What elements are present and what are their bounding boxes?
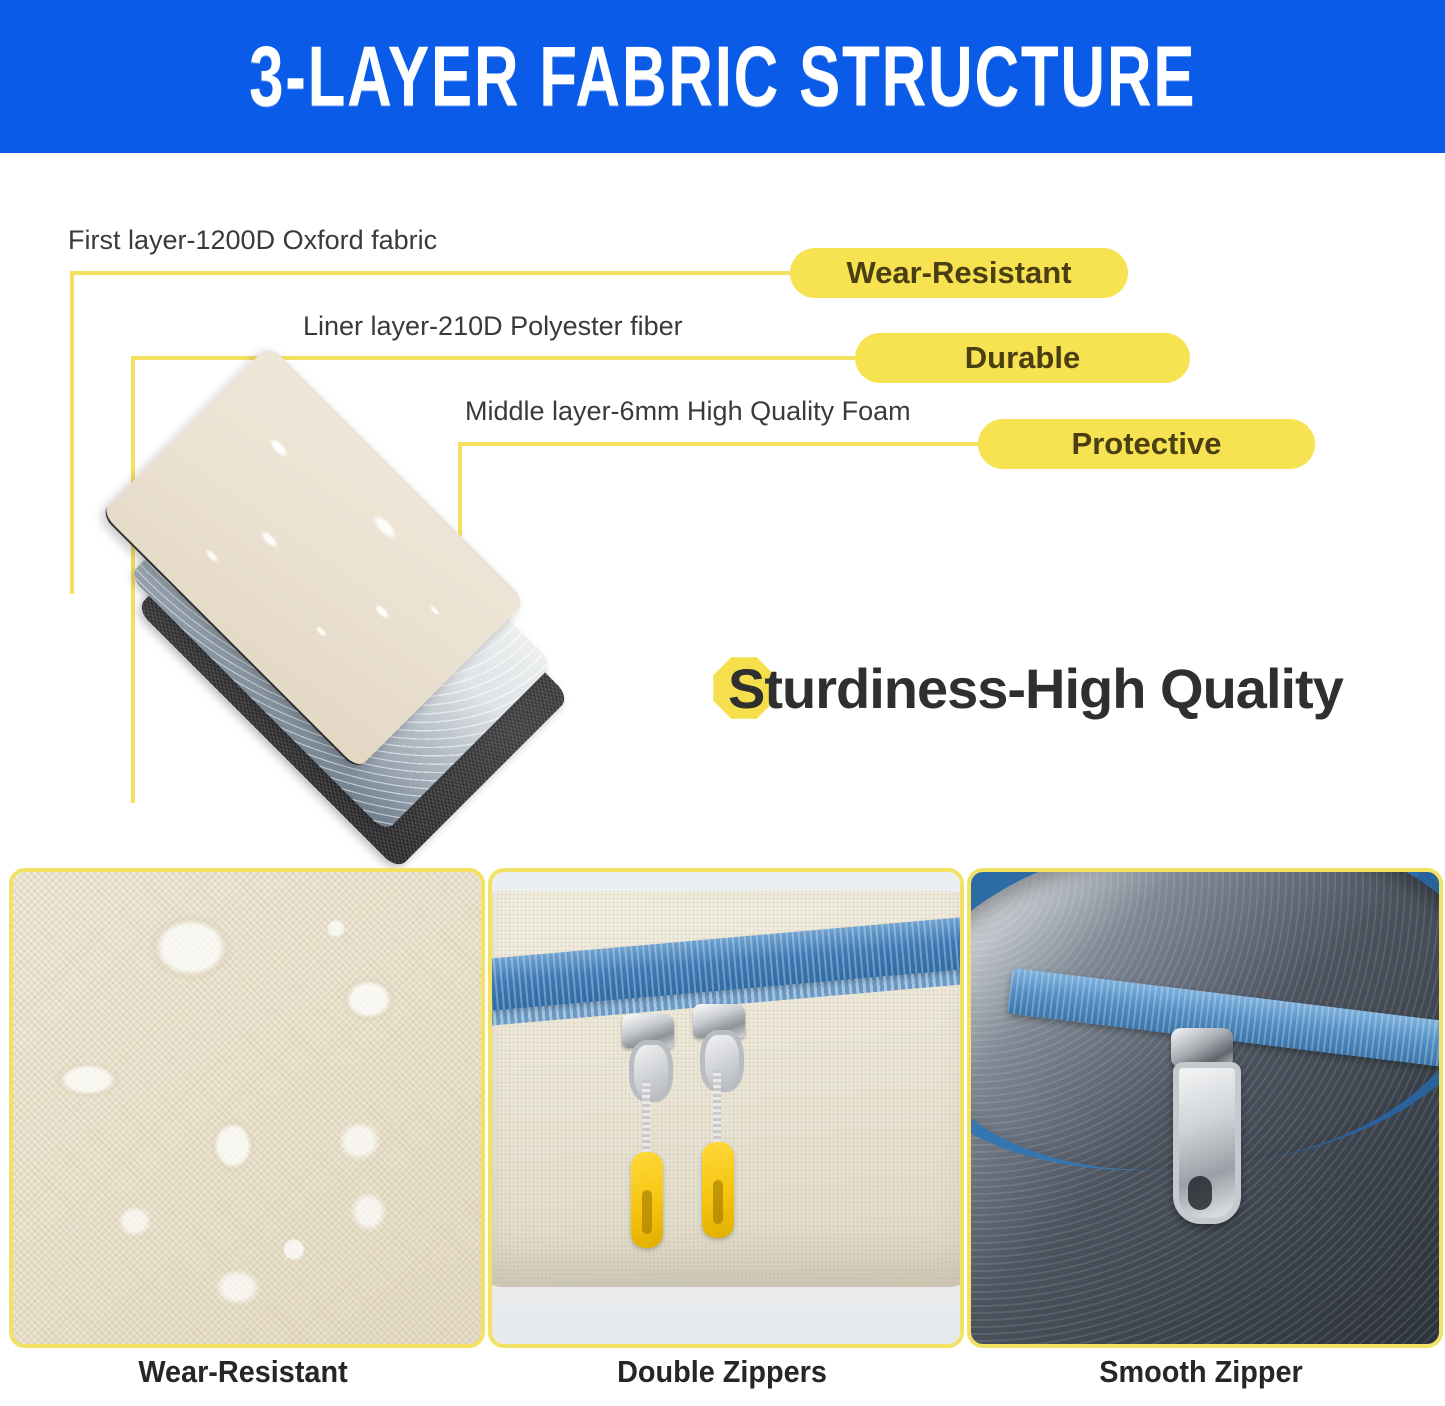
chrome-zipper-pull bbox=[1163, 1028, 1239, 1218]
caption-smooth-zipper: Smooth Zipper bbox=[983, 1354, 1418, 1390]
water-beading-fabric-photo bbox=[13, 872, 481, 1344]
zipper-cord bbox=[713, 1070, 721, 1148]
zipper-pull-right bbox=[689, 1004, 747, 1082]
fabric-structure-diagram: First layer-1200D Oxford fabric Liner la… bbox=[0, 153, 1445, 860]
badge-protective: Protective bbox=[978, 419, 1315, 469]
caption-wear-resistant: Wear-Resistant bbox=[25, 1354, 460, 1390]
leader-line-1-horizontal bbox=[70, 271, 792, 275]
panel-double-zippers bbox=[488, 868, 964, 1348]
smooth-zipper-mesh-photo bbox=[971, 872, 1439, 1344]
feature-photo-panels: Wear-Resistant Double Zippers Smooth Zip… bbox=[0, 868, 1445, 1406]
zipper-pull-ring bbox=[700, 1030, 744, 1092]
badge-durable: Durable bbox=[855, 333, 1190, 383]
fabric-swatch-illustration bbox=[28, 433, 688, 833]
zipper-pull-left bbox=[618, 1014, 676, 1092]
zipper-pull-ring bbox=[629, 1040, 673, 1102]
zipper-cord bbox=[642, 1080, 650, 1158]
callout-label-middle-layer: Middle layer-6mm High Quality Foam bbox=[465, 396, 911, 427]
sturdiness-headline: Sturdiness-High Quality bbox=[712, 648, 1343, 728]
badge-wear-resistant: Wear-Resistant bbox=[790, 248, 1128, 298]
zipper-tab-yellow bbox=[702, 1142, 734, 1238]
double-zipper-pulls-photo bbox=[492, 872, 960, 1344]
page-title: 3-LAYER FABRIC STRUCTURE bbox=[249, 34, 1196, 119]
callout-label-first-layer: First layer-1200D Oxford fabric bbox=[68, 225, 437, 256]
caption-double-zippers: Double Zippers bbox=[504, 1354, 939, 1390]
sturdiness-headline-text: Sturdiness-High Quality bbox=[728, 656, 1343, 721]
header-banner: 3-LAYER FABRIC STRUCTURE bbox=[0, 0, 1445, 153]
zipper-pull-tab bbox=[1173, 1062, 1241, 1224]
panel-smooth-zipper bbox=[967, 868, 1443, 1348]
panel-wear-resistant bbox=[9, 868, 485, 1348]
zipper-tab-yellow bbox=[631, 1152, 663, 1248]
callout-label-liner-layer: Liner layer-210D Polyester fiber bbox=[303, 311, 683, 342]
leader-line-2-horizontal bbox=[131, 356, 857, 360]
